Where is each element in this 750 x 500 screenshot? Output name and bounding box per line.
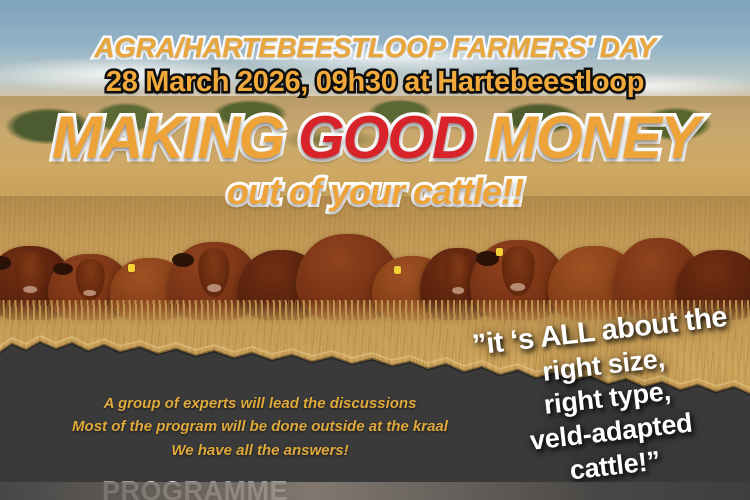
headline-word-money: MONEY [488, 108, 698, 168]
cow-head [445, 254, 471, 299]
event-blurb: A group of experts will lead the discuss… [40, 392, 480, 462]
blurb-line-3: We have all the answers! [40, 439, 480, 462]
ear-tag [496, 248, 503, 256]
cow-ear [53, 263, 73, 275]
main-headline: MAKING GOOD MONEY [0, 108, 750, 168]
cow-muzzle [23, 286, 37, 293]
cow-head [15, 252, 45, 298]
ear-tag [128, 264, 135, 272]
cow-muzzle [511, 283, 526, 291]
cow-muzzle [452, 287, 464, 294]
blurb-line-2: Most of the program will be done outside… [40, 415, 480, 438]
cow-head [198, 248, 229, 296]
cattle-quote: ”it ‘s ALL about the right size, right t… [454, 300, 750, 496]
blurb-line-1: A group of experts will lead the discuss… [40, 392, 480, 415]
cow-ear [172, 253, 194, 267]
poster-title-line1: AGRA/HARTEBEESTLOOP FARMERS' DAY [0, 32, 750, 64]
farmers-day-poster: AGRA/HARTEBEESTLOOP FARMERS' DAY 28 Marc… [0, 0, 750, 500]
bottom-gradient-strip [0, 482, 750, 500]
headline-subline: out of your cattle!! [0, 174, 750, 210]
ear-tag [394, 266, 401, 274]
poster-date-line: 28 March 2026, 09h30 at Hartebeestloop [0, 66, 750, 99]
cow-head [502, 246, 535, 296]
cow-muzzle [207, 284, 221, 292]
headline-word-good: GOOD [298, 108, 473, 168]
headline-word-making: MAKING [52, 108, 283, 168]
cow-ear [0, 256, 11, 269]
cow-head [76, 259, 105, 300]
cow-muzzle [83, 290, 96, 297]
